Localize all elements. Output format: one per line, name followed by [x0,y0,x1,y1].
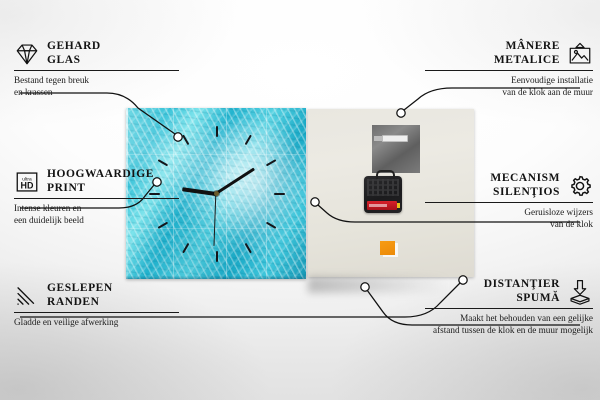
feature-description: Intense kleuren en een duidelijk beeld [14,203,179,226]
feature-title-line1: MECANISM [425,172,560,186]
ultra-hd-icon: ultra HD [14,169,40,195]
feature-title: MÂNERE METALICE [425,40,560,67]
mechanism-vent-grid [367,179,399,196]
feature-divider [425,70,593,71]
clock-hour-hand [182,187,216,196]
feature-description: Geruisloze wijzers van de klok [425,207,593,230]
quartz-mechanism-box [364,176,402,213]
feature-title: MECANISM SILENŢIOS [425,172,560,199]
feature-title: GESLEPEN RANDEN [47,282,113,309]
feature-header: GEHARD GLAS [14,40,179,67]
feature-manere-metalice[interactable]: MÂNERE METALICE Eenvoudige installatie v… [425,40,593,98]
feature-description: Eenvoudige installatie van de klok aan d… [425,75,593,98]
feature-title-line2: RANDEN [47,296,113,310]
feature-desc-line1: Intense kleuren en [14,203,179,215]
feature-desc-line2: een duidelijk beeld [14,215,179,227]
feature-header: MECANISM SILENŢIOS [425,172,593,199]
feature-gehard-glas[interactable]: GEHARD GLAS Bestand tegen breuk en krass… [14,40,179,98]
feature-title-line2: SILENŢIOS [425,186,560,200]
feature-hoogwaardige-print[interactable]: ultra HD HOOGWAARDIGE PRINT Intense kleu… [14,168,179,226]
beveled-edges-icon [14,283,40,309]
feature-header: GESLEPEN RANDEN [14,282,179,309]
feature-title-line1: DISTANŢIER [425,278,560,292]
feature-title-line2: GLAS [47,54,101,68]
foam-spacer-arrow-icon [567,279,593,305]
feature-desc-line2: en krassen [14,87,179,99]
infographic-canvas: GEHARD GLAS Bestand tegen breuk en krass… [0,0,600,400]
feature-desc-line1: Maakt het behouden van een gelijke [425,313,593,325]
feature-header: DISTANŢIER SPUMĂ [425,278,593,305]
feature-title-line1: GESLEPEN [47,282,113,296]
feature-desc-line1: Geruisloze wijzers [425,207,593,219]
feature-title-line1: GEHARD [47,40,101,54]
diamond-icon [14,41,40,67]
feature-description: Maakt het behouden van een gelijke afsta… [425,313,593,336]
metal-hanger-plate [372,125,420,173]
feature-description: Bestand tegen breuk en krassen [14,75,179,98]
feature-desc-line1: Bestand tegen breuk [14,75,179,87]
aa-battery [367,201,397,210]
foam-spacer [380,241,395,255]
feature-title-line2: METALICE [425,54,560,68]
feature-title-line1: MÂNERE [425,40,560,54]
feature-title: GEHARD GLAS [47,40,101,67]
feature-divider [14,70,179,71]
clock-minute-hand [215,167,255,195]
feature-divider [14,312,179,313]
clock-center-pin [214,191,219,196]
feature-desc-line1: Eenvoudige installatie [425,75,593,87]
feature-desc-line1: Gladde en veilige afwerking [14,317,179,329]
clock-second-hand [214,193,217,245]
feature-header: ultra HD HOOGWAARDIGE PRINT [14,168,179,195]
feature-title-line2: SPUMĂ [425,292,560,306]
feature-header: MÂNERE METALICE [425,40,593,67]
feature-title: HOOGWAARDIGE PRINT [47,168,154,195]
feature-desc-line2: afstand tussen de klok en de muur mogeli… [425,325,593,337]
feature-divider [425,202,593,203]
feature-divider [425,308,593,309]
feature-title: DISTANŢIER SPUMĂ [425,278,560,305]
feature-mecanism-silentios[interactable]: MECANISM SILENŢIOS Geruisloze wijzers va… [425,172,593,230]
feature-geslepen-randen[interactable]: GESLEPEN RANDEN Gladde en veilige afwerk… [14,282,179,329]
hanger-slot [382,135,408,142]
feature-title-line1: HOOGWAARDIGE [47,168,154,182]
feature-desc-line2: van de klok [425,219,593,231]
feature-title-line2: PRINT [47,182,154,196]
feature-desc-line2: van de klok aan de muur [425,87,593,99]
wall-frame-hook-icon [567,41,593,67]
feature-distantier-spuma[interactable]: DISTANŢIER SPUMĂ Maakt het behouden van … [425,278,593,336]
ultra-hd-icon-bottom-text: HD [21,180,34,190]
feature-description: Gladde en veilige afwerking [14,317,179,329]
battery-label [369,204,387,207]
feature-divider [14,198,179,199]
gear-icon [567,173,593,199]
